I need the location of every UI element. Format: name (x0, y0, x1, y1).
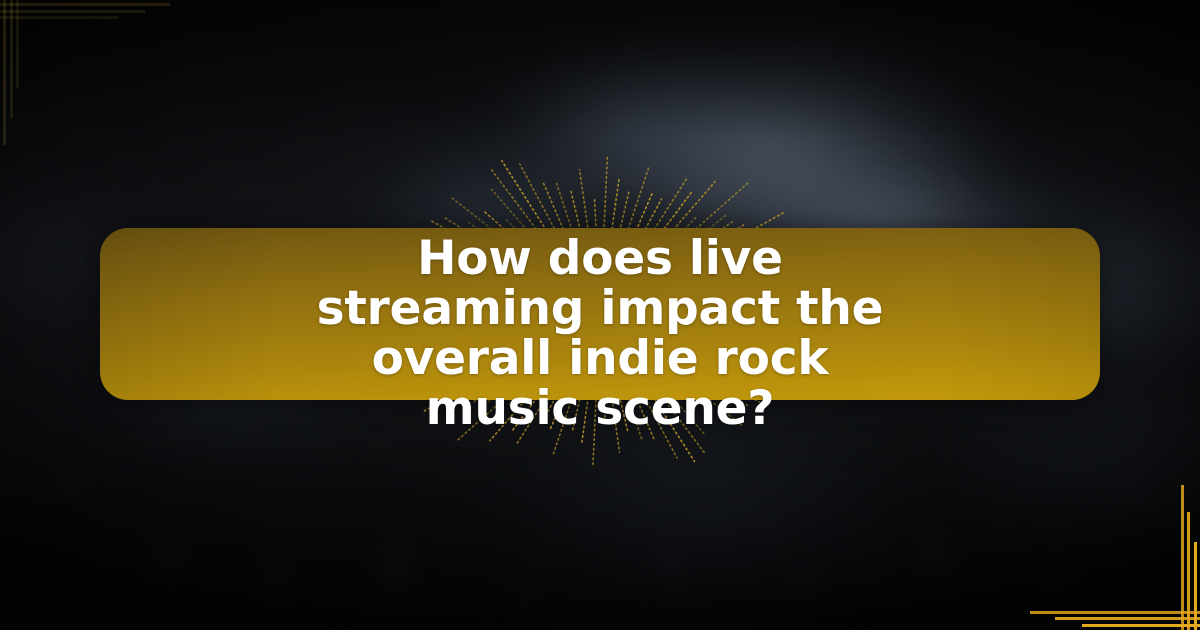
question-headline: How does live streaming impact the overa… (100, 228, 1100, 434)
question-card-graphic: How does live streaming impact the overa… (0, 0, 1200, 630)
